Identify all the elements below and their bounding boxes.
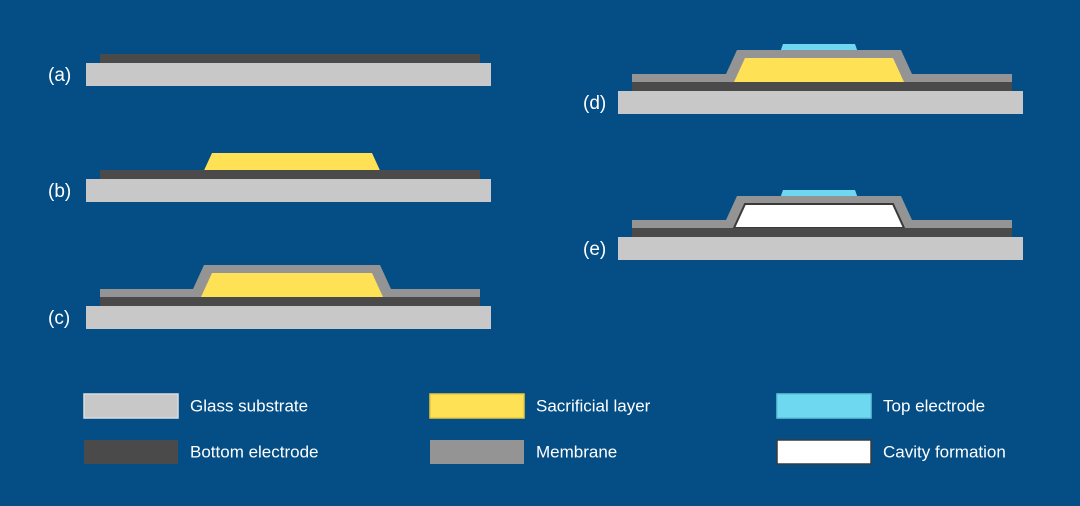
panel-d-sacrificial-layer	[734, 58, 904, 82]
panel-c-glass-substrate	[86, 306, 491, 329]
bottom-electrode-swatch	[84, 440, 178, 464]
legend-item-membrane: Membrane	[430, 440, 617, 464]
fabrication-process-figure: (a) (b) (c) (d) (e)	[0, 0, 1080, 506]
membrane-swatch	[430, 440, 524, 464]
panel-c-bottom-electrode	[100, 297, 480, 306]
panel-e-glass-substrate	[618, 237, 1023, 260]
panel-d-label: (d)	[583, 93, 606, 114]
cavity-formation-swatch	[777, 440, 871, 464]
legend-label-bottom-electrode: Bottom electrode	[190, 442, 319, 461]
glass-substrate-swatch	[84, 394, 178, 418]
panel-d-bottom-electrode	[632, 82, 1012, 91]
top-electrode-swatch	[777, 394, 871, 418]
panel-b-bottom-electrode	[100, 170, 480, 179]
legend-label-glass-substrate: Glass substrate	[190, 396, 308, 415]
legend-label-top-electrode: Top electrode	[883, 396, 985, 415]
legend-item-cavity-formation: Cavity formation	[777, 440, 1006, 464]
legend-item-bottom-electrode: Bottom electrode	[84, 440, 319, 464]
panel-c-label: (c)	[48, 308, 70, 329]
legend-label-sacrificial-layer: Sacrificial layer	[536, 396, 651, 415]
legend-item-sacrificial-layer: Sacrificial layer	[430, 394, 651, 418]
sacrificial-layer-swatch	[430, 394, 524, 418]
legend-item-glass-substrate: Glass substrate	[84, 394, 308, 418]
panel-a-label: (a)	[48, 65, 71, 86]
panel-e-cavity-formation	[734, 204, 904, 228]
panel-b-glass-substrate	[86, 179, 491, 202]
panel-d-glass-substrate	[618, 91, 1023, 114]
panel-e-label: (e)	[583, 239, 606, 260]
panel-b-label: (b)	[48, 181, 71, 202]
panel-a-glass-substrate	[86, 63, 491, 86]
legend-label-membrane: Membrane	[536, 442, 617, 461]
panel-a-bottom-electrode	[100, 54, 480, 63]
panel-a: (a)	[48, 54, 491, 86]
panel-e-bottom-electrode	[632, 228, 1012, 237]
panel-c-sacrificial-layer	[201, 273, 383, 297]
legend-label-cavity-formation: Cavity formation	[883, 442, 1006, 461]
